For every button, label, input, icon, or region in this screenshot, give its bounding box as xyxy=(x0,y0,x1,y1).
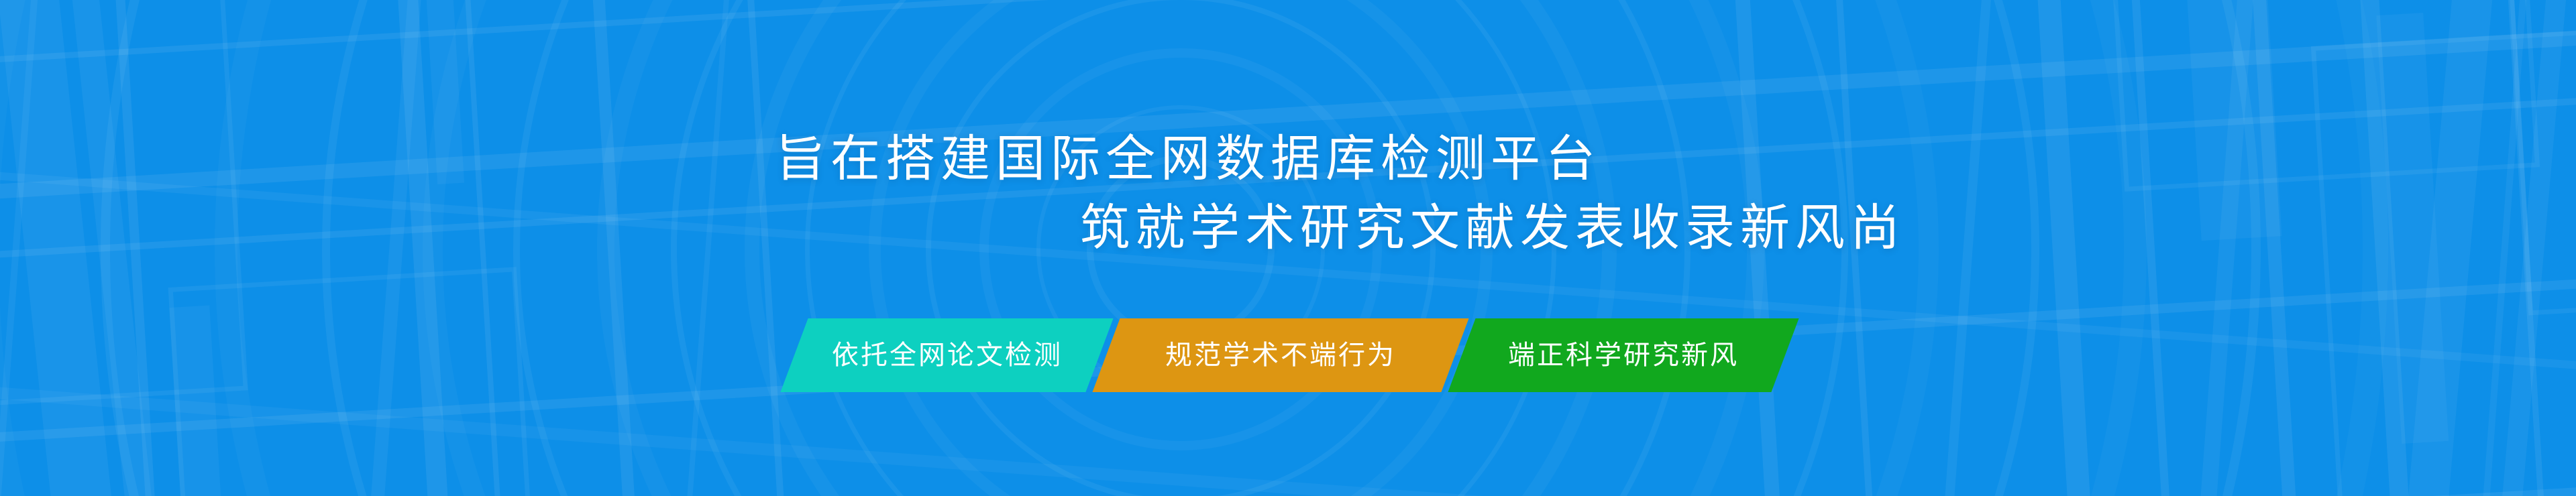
grid-line-v xyxy=(736,0,802,496)
feature-tag-2-label: 端正科学研究新风 xyxy=(1508,342,1739,369)
grid-line-v xyxy=(2457,0,2534,496)
feature-tag-0[interactable]: 依托全网论文检测 xyxy=(780,318,1113,392)
sheen-band xyxy=(2487,0,2576,496)
feature-tag-1-label: 规范学术不端行为 xyxy=(1165,342,1396,369)
feature-tag-2[interactable]: 端正科学研究新风 xyxy=(1448,318,1799,392)
grid-line-v xyxy=(2343,0,2422,496)
grid-line-v xyxy=(2236,0,2309,496)
sheen-band xyxy=(58,0,169,496)
grid-line-v xyxy=(356,0,441,496)
sheen-band xyxy=(2394,0,2504,496)
grid-line-h xyxy=(0,0,2576,80)
soft-block xyxy=(2180,0,2282,241)
headline-line-1: 旨在搭建国际全网数据库检测平台 xyxy=(775,134,1601,184)
grid-line-v xyxy=(2115,0,2183,496)
feature-tag-1[interactable]: 规范学术不端行为 xyxy=(1092,318,1468,392)
outline-box xyxy=(2100,0,2540,192)
grid-line-v xyxy=(0,0,59,496)
hero-banner: 旨在搭建国际全网数据库检测平台 筑就学术研究文献发表收录新风尚 依托全网论文检测… xyxy=(0,0,2576,496)
grid-line-v xyxy=(582,0,653,496)
headline-line-2: 筑就学术研究文献发表收录新风尚 xyxy=(1080,203,1905,253)
grid-line-v xyxy=(107,0,176,496)
sheen-band xyxy=(0,0,129,496)
grid-line-v xyxy=(388,0,468,496)
grid-line-v xyxy=(2176,0,2263,496)
grid-line-v xyxy=(455,0,520,496)
grid-line-v xyxy=(2490,0,2556,496)
grid-line-h xyxy=(0,469,2576,496)
feature-tag-strip: 依托全网论文检测 规范学术不端行为 端正科学研究新风 xyxy=(0,318,2576,392)
feature-tag-0-label: 依托全网论文检测 xyxy=(832,342,1063,369)
outline-box xyxy=(2311,27,2576,496)
soft-block xyxy=(423,0,464,184)
outline-box xyxy=(2493,0,2576,316)
grid-line-v xyxy=(1921,0,2002,496)
grid-line-v xyxy=(2022,0,2104,496)
grid-line-v xyxy=(670,0,747,496)
